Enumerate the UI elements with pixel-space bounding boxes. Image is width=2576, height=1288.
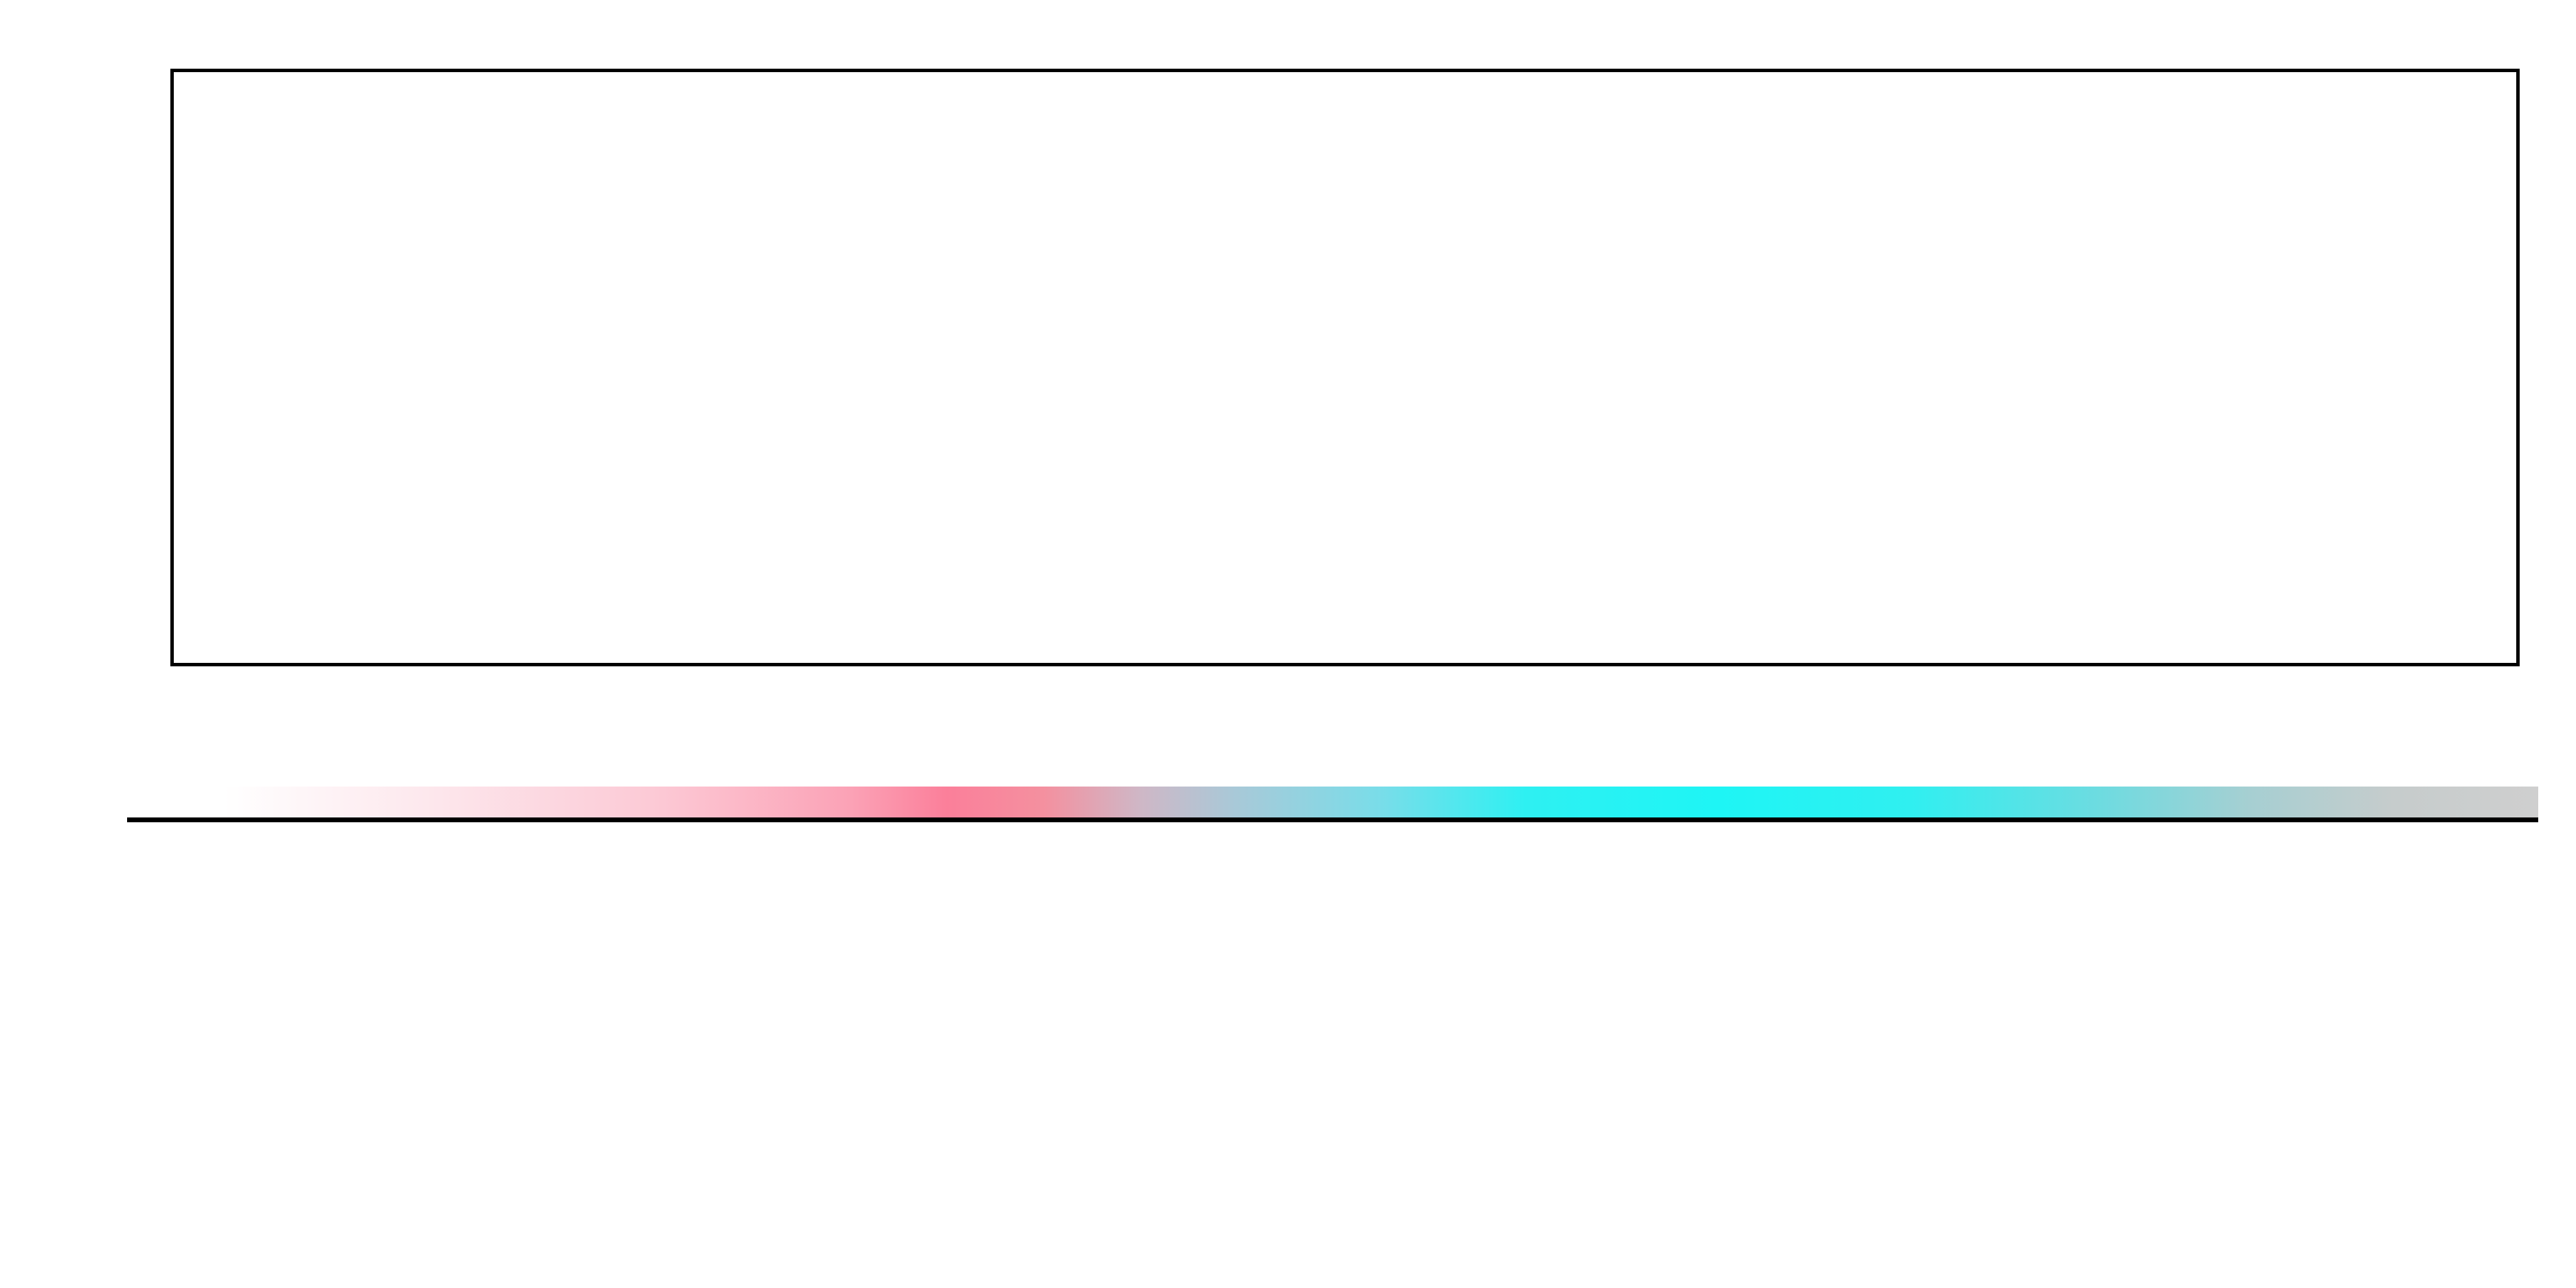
colorbar (127, 787, 2538, 822)
figure-root (0, 0, 2576, 1288)
plot-clip (174, 72, 2516, 663)
plot-area (170, 69, 2520, 666)
colorbar-gradient (127, 787, 2538, 822)
data-overlay (174, 72, 2516, 663)
